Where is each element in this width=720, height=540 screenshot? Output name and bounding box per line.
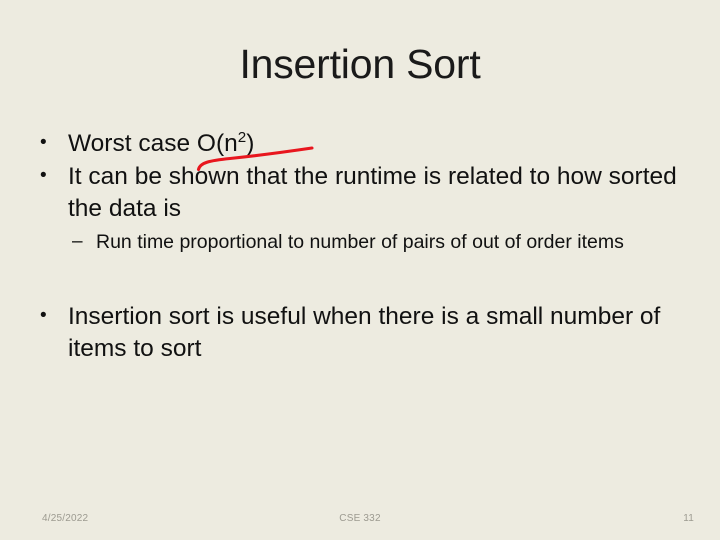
sub-bullet-item-pairs-out-of-order: – Run time proportional to number of pai… xyxy=(72,230,686,256)
bullet-text-worst-case: Worst case O(n2) xyxy=(68,128,686,160)
bullet-item-useful-small-number: • Insertion sort is useful when there is… xyxy=(36,301,686,365)
dash-marker-icon: – xyxy=(72,230,96,255)
presentation-slide: Insertion Sort • Worst case O(n2) • It c… xyxy=(0,0,720,540)
superscript-exponent: 2 xyxy=(238,129,246,146)
slide-body-content: • Worst case O(n2) • It can be shown tha… xyxy=(36,128,686,366)
bullet-marker-icon: • xyxy=(36,161,68,192)
bullet-text-segment: Worst case O(n xyxy=(68,130,238,157)
bullet-item-runtime-related: • It can be shown that the runtime is re… xyxy=(36,161,686,225)
footer-page-number: 11 xyxy=(683,513,694,524)
bullet-item-worst-case: • Worst case O(n2) xyxy=(36,128,686,160)
bullet-marker-icon: • xyxy=(36,128,68,159)
bullet-text-runtime-related: It can be shown that the runtime is rela… xyxy=(68,161,686,225)
footer-course-label: CSE 332 xyxy=(0,513,720,524)
blank-line-spacer xyxy=(36,255,686,301)
bullet-text-segment-tail: ) xyxy=(246,130,254,157)
sub-bullet-text-pairs-out-of-order: Run time proportional to number of pairs… xyxy=(96,230,686,256)
bullet-marker-icon: • xyxy=(36,301,68,332)
bullet-text-useful-small-number: Insertion sort is useful when there is a… xyxy=(68,301,686,365)
slide-title: Insertion Sort xyxy=(0,40,720,88)
